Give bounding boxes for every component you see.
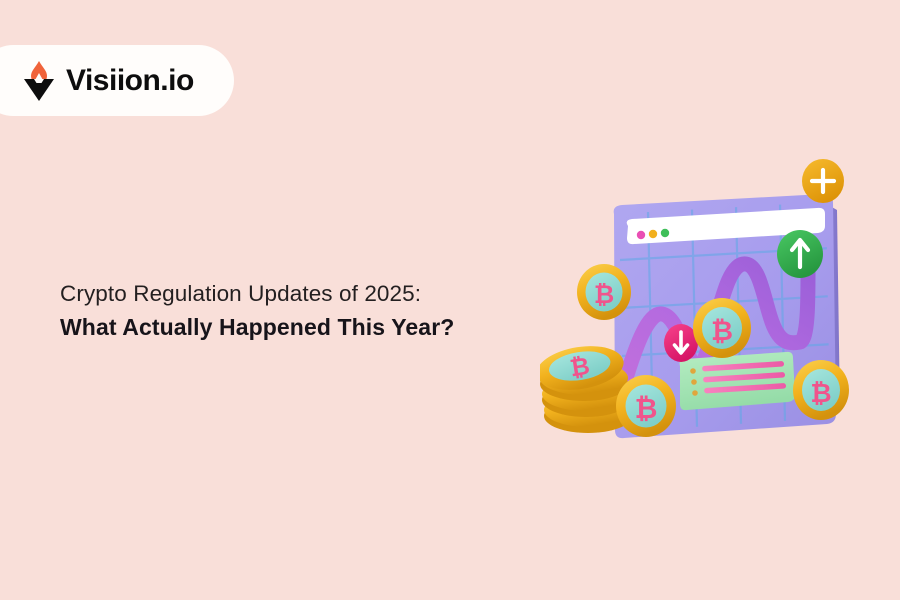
- svg-text:₿: ₿: [635, 393, 658, 424]
- flame-diamond-logo-icon: [22, 60, 56, 102]
- bitcoin-coin-stack: ₿: [540, 340, 632, 433]
- bitcoin-coin-right: ₿: [793, 360, 849, 420]
- bitcoin-coin-left-float: ₿: [577, 264, 631, 320]
- bitcoin-coin-center: ₿: [693, 298, 751, 358]
- green-list-card: [680, 352, 795, 410]
- svg-text:₿: ₿: [594, 281, 614, 309]
- banner-root: Visiion.io Crypto Regulation Updates of …: [0, 0, 900, 600]
- svg-text:₿: ₿: [711, 316, 733, 346]
- dot-green-icon: [661, 229, 669, 237]
- bitcoin-coin-front: ₿: [616, 375, 676, 437]
- svg-text:₿: ₿: [568, 353, 592, 383]
- headline-line-2: What Actually Happened This Year?: [60, 311, 530, 344]
- dot-yellow-icon: [649, 230, 657, 238]
- down-arrow-badge: [664, 324, 698, 362]
- crypto-dashboard-3d-illustration: ₿ ₿ ₿: [540, 150, 880, 460]
- plus-badge: [802, 159, 844, 203]
- headline-line-1: Crypto Regulation Updates of 2025:: [60, 278, 530, 311]
- page-title: Crypto Regulation Updates of 2025: What …: [60, 278, 530, 344]
- logo-brand-name: Visiion.io: [66, 66, 194, 96]
- logo-pill[interactable]: Visiion.io: [0, 45, 234, 116]
- dot-magenta-icon: [637, 231, 645, 239]
- up-arrow-badge: [777, 230, 823, 278]
- svg-text:₿: ₿: [810, 378, 831, 408]
